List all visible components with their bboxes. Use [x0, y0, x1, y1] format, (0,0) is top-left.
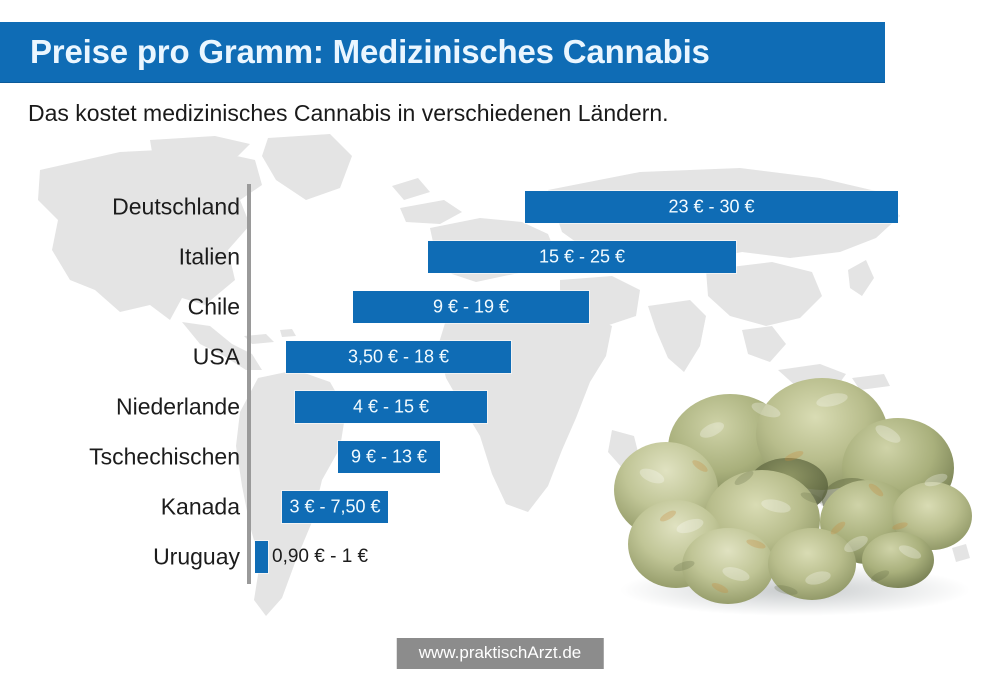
- bar-value-label: 15 € - 25 €: [428, 247, 736, 268]
- bar-value-label: 3,50 € - 18 €: [286, 347, 511, 368]
- chart-row: Uruguay 0,90 € - 1 €: [0, 532, 1000, 582]
- bar-usa: 3,50 € - 18 €: [286, 341, 511, 373]
- bar-niederlande: 4 € - 15 €: [295, 391, 487, 423]
- bar-category-label: Deutschland: [0, 194, 240, 221]
- bar-uruguay: [255, 541, 268, 573]
- chart-row: Deutschland 23 € - 30 €: [0, 182, 1000, 232]
- bar-chile: 9 € - 19 €: [353, 291, 589, 323]
- bar-italien: 15 € - 25 €: [428, 241, 736, 273]
- chart-row: Chile 9 € - 19 €: [0, 282, 1000, 332]
- chart-row: Italien 15 € - 25 €: [0, 232, 1000, 282]
- watermark-badge: www.praktischArzt.de: [397, 638, 604, 669]
- bar-category-label: USA: [0, 344, 240, 371]
- bar-value-label: 0,90 € - 1 €: [272, 546, 368, 568]
- chart-row: Tschechischen 9 € - 13 €: [0, 432, 1000, 482]
- chart-row: USA 3,50 € - 18 €: [0, 332, 1000, 382]
- chart-row: Niederlande 4 € - 15 €: [0, 382, 1000, 432]
- infographic-root: Preise pro Gramm: Medizinisches Cannabis…: [0, 0, 1000, 678]
- bar-category-label: Chile: [0, 294, 240, 321]
- page-subtitle: Das kostet medizinisches Cannabis in ver…: [28, 100, 669, 127]
- bar-value-label: 23 € - 30 €: [525, 197, 898, 218]
- chart-row: Kanada 3 € - 7,50 €: [0, 482, 1000, 532]
- bar-tschechischen: 9 € - 13 €: [338, 441, 440, 473]
- bar-value-label: 4 € - 15 €: [295, 397, 487, 418]
- bar-value-label: 3 € - 7,50 €: [282, 497, 388, 518]
- bar-category-label: Tschechischen: [0, 444, 240, 471]
- bar-category-label: Niederlande: [0, 394, 240, 421]
- page-title: Preise pro Gramm: Medizinisches Cannabis: [30, 33, 710, 71]
- title-banner: Preise pro Gramm: Medizinisches Cannabis: [0, 22, 885, 82]
- bar-category-label: Italien: [0, 244, 240, 271]
- bar-value-label: 9 € - 13 €: [338, 447, 440, 468]
- bar-kanada: 3 € - 7,50 €: [282, 491, 388, 523]
- bar-category-label: Kanada: [0, 494, 240, 521]
- bar-deutschland: 23 € - 30 €: [525, 191, 898, 223]
- bar-value-label: 9 € - 19 €: [353, 297, 589, 318]
- bar-chart: Deutschland 23 € - 30 € Italien 15 € - 2…: [0, 178, 1000, 598]
- bar-category-label: Uruguay: [0, 544, 240, 571]
